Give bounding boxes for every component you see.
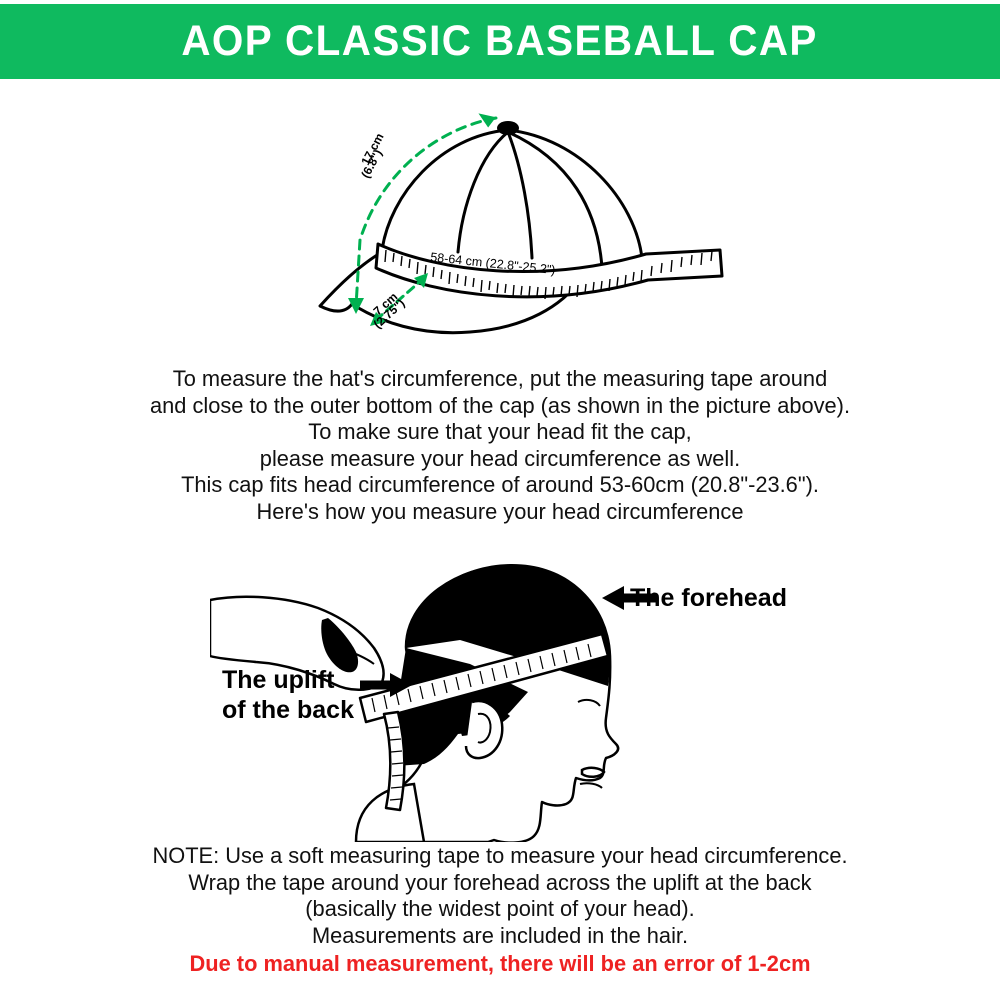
cap-crown-left (382, 130, 508, 250)
forehead-callout-label: The forehead (630, 583, 787, 613)
head-chin-crease (580, 783, 602, 788)
instruction-line: To measure the hat's circumference, put … (15, 366, 985, 393)
cap-brim-dimension: 7 cm (2.75") (370, 273, 428, 331)
instruction-line: please measure your head circumference a… (15, 446, 985, 473)
note-warning-line: Due to manual measurement, there will be… (15, 949, 985, 978)
cap-diagram: 58-64 cm (22.8"-25.2") 17 cm (6.8") 7 cm… (290, 100, 740, 350)
notes-block: NOTE: Use a soft measuring tape to measu… (0, 843, 1000, 978)
note-line: NOTE: Use a soft measuring tape to measu… (15, 843, 985, 870)
header-banner: AOP CLASSIC BASEBALL CAP (0, 4, 1000, 79)
note-line: (basically the widest point of your head… (15, 896, 985, 923)
cap-top-button (497, 121, 519, 135)
size-chart-page: AOP CLASSIC BASEBALL CAP (0, 0, 1000, 1000)
uplift-callout-line1: The uplift (222, 665, 354, 695)
uplift-callout-label: The uplift of the back (222, 665, 354, 725)
cap-illustration-svg: 58-64 cm (22.8"-25.2") 17 cm (6.8") 7 cm… (290, 100, 740, 350)
note-line: Measurements are included in the hair. (15, 923, 985, 950)
uplift-callout-line2: of the back (222, 695, 354, 725)
cap-crown-right (508, 130, 642, 258)
instruction-line: and close to the outer bottom of the cap… (15, 393, 985, 420)
instruction-line: This cap fits head circumference of arou… (15, 472, 985, 499)
instruction-line: To make sure that your head fit the cap, (15, 419, 985, 446)
instructions-block: To measure the hat's circumference, put … (0, 366, 1000, 525)
page-title: AOP CLASSIC BASEBALL CAP (182, 17, 818, 66)
head-lips (582, 768, 604, 777)
cap-seam-left (458, 132, 508, 252)
cap-seam-right (508, 132, 602, 268)
cap-seam-mid (508, 132, 532, 258)
note-line: Wrap the tape around your forehead acros… (15, 870, 985, 897)
instruction-line: Here's how you measure your head circumf… (15, 499, 985, 526)
